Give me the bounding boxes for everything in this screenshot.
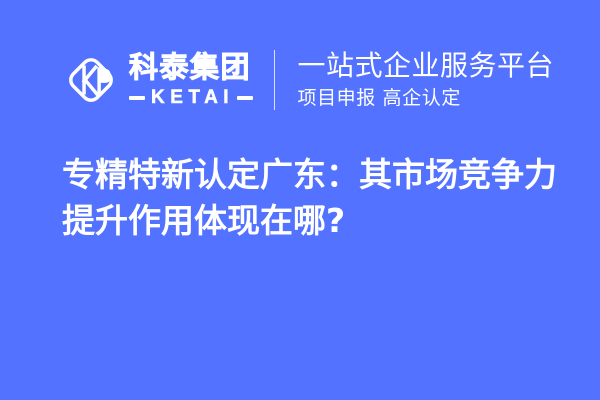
vertical-divider-icon (274, 50, 275, 110)
logo-name-en-row: KETAI (129, 88, 253, 107)
page-title: 专精特新认定广东：其市场竞争力 提升作用体现在哪? (62, 152, 562, 244)
logo-name-en: KETAI (151, 88, 234, 107)
brand-header: 科泰集团 KETAI 一站式企业服务平台 项目申报 高企认定 (62, 48, 554, 112)
ketai-kp-monogram-icon (62, 51, 120, 109)
ketai-logo[interactable]: 科泰集团 KETAI (62, 49, 253, 111)
logo-wordmark: 科泰集团 KETAI (129, 51, 253, 109)
page-title-line-2: 提升作用体现在哪? (62, 198, 562, 244)
logo-rule-right-icon (237, 96, 253, 100)
tagline-primary: 一站式企业服务平台 (297, 51, 554, 81)
logo-rule-left-icon (129, 96, 145, 100)
page-title-line-1: 专精特新认定广东：其市场竞争力 (62, 152, 562, 198)
tagline-block: 一站式企业服务平台 项目申报 高企认定 (297, 49, 554, 111)
tagline-secondary: 项目申报 高企认定 (297, 88, 554, 109)
logo-name-cn: 科泰集团 (129, 53, 253, 82)
promo-banner: 科泰集团 KETAI 一站式企业服务平台 项目申报 高企认定 专精特新认定广东：… (0, 0, 600, 400)
